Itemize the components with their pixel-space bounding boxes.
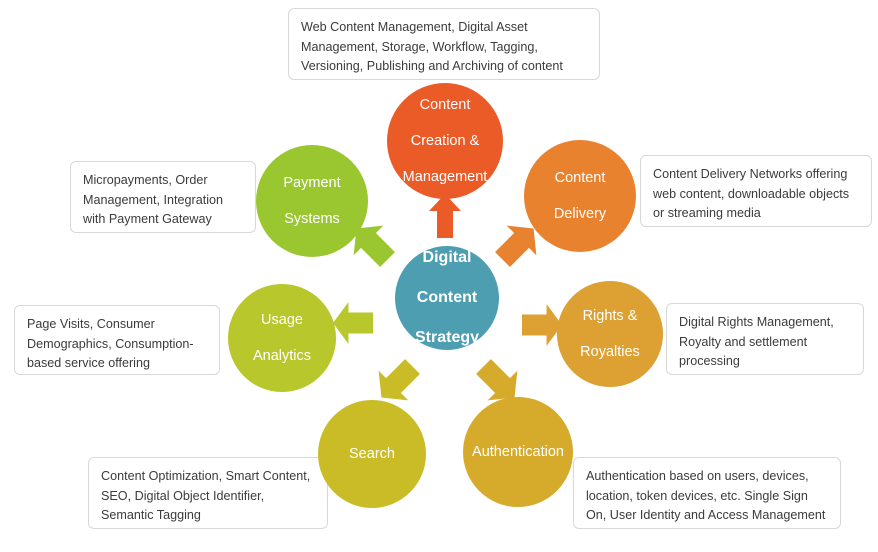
node-usage-analytics[interactable]: UsageAnalytics — [228, 284, 336, 392]
node-label-content-delivery: ContentDelivery — [542, 169, 618, 223]
label-line-2: Systems — [277, 210, 346, 228]
callout-search: Content Optimization, Smart Content, SEO… — [88, 457, 328, 529]
arrow-to-content-creation — [429, 194, 461, 238]
label-line-3: Management — [397, 168, 494, 186]
node-authentication[interactable]: Authentication — [463, 397, 573, 507]
callout-content-delivery: Content Delivery Networks offering web c… — [640, 155, 872, 227]
label-line-2: Content — [409, 288, 485, 308]
label-line-1: Digital — [409, 248, 485, 268]
label-line-2: Creation & — [397, 132, 494, 150]
node-label-search: Search — [337, 445, 407, 463]
label-line-2: Delivery — [548, 205, 612, 223]
node-payment-systems[interactable]: PaymentSystems — [256, 145, 368, 257]
callout-rights-royalties: Digital Rights Management, Royalty and s… — [666, 303, 864, 375]
arrow-to-rights-royalties — [522, 304, 562, 346]
label-line-1: Authentication — [466, 443, 570, 461]
node-label-authentication: Authentication — [460, 443, 576, 461]
label-line-1: Usage — [247, 311, 317, 329]
diagram-canvas: Web Content Management, Digital Asset Ma… — [0, 0, 878, 552]
node-label-digital-content-strategy: DigitalContentStrategy — [403, 248, 491, 348]
node-content-creation-management[interactable]: ContentCreation &Management — [387, 83, 503, 199]
label-line-1: Content — [548, 169, 612, 187]
callout-content-creation-management: Web Content Management, Digital Asset Ma… — [288, 8, 600, 80]
node-label-usage-analytics: UsageAnalytics — [241, 311, 323, 365]
node-label-rights-royalties: Rights &Royalties — [568, 307, 652, 361]
label-line-2: Royalties — [574, 343, 646, 361]
label-line-1: Content — [397, 96, 494, 114]
arrow-to-usage-analytics — [333, 302, 373, 344]
node-label-payment-systems: PaymentSystems — [271, 174, 352, 228]
node-rights-royalties[interactable]: Rights &Royalties — [557, 281, 663, 387]
node-label-content-creation-management: ContentCreation &Management — [391, 96, 500, 187]
node-search[interactable]: Search — [318, 400, 426, 508]
node-digital-content-strategy[interactable]: DigitalContentStrategy — [395, 246, 499, 350]
callout-payment-systems: Micropayments, Order Management, Integra… — [70, 161, 256, 233]
label-line-1: Rights & — [574, 307, 646, 325]
label-line-2: Analytics — [247, 347, 317, 365]
label-line-1: Payment — [277, 174, 346, 192]
label-line-1: Search — [343, 445, 401, 463]
label-line-3: Strategy — [409, 328, 485, 348]
callout-usage-analytics: Page Visits, Consumer Demographics, Cons… — [14, 305, 220, 375]
node-content-delivery[interactable]: ContentDelivery — [524, 140, 636, 252]
callout-authentication: Authentication based on users, devices, … — [573, 457, 841, 529]
